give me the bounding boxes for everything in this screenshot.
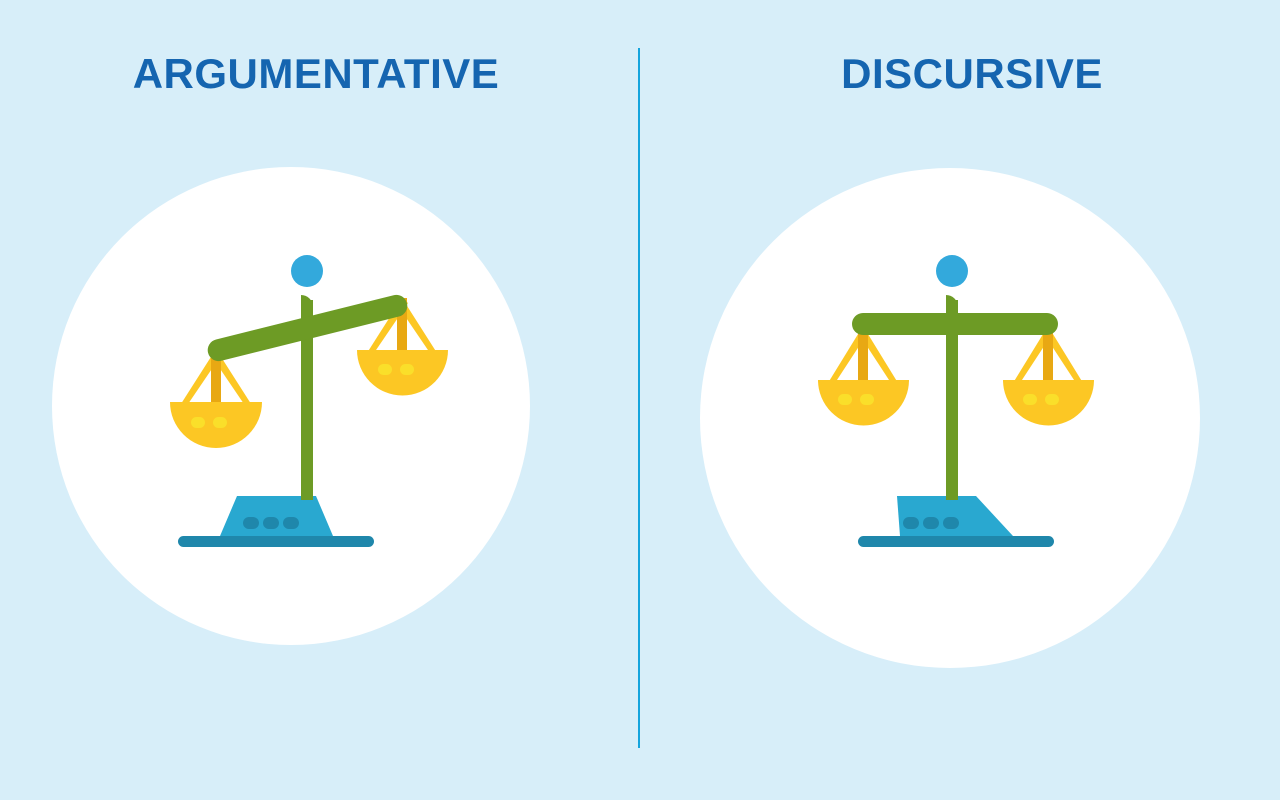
comparison-canvas: ARGUMENTATIVE xyxy=(0,0,1280,800)
panel-discursive: DISCURSIVE xyxy=(640,0,1280,800)
panel-argumentative: ARGUMENTATIVE xyxy=(0,0,638,800)
page-title-discursive: DISCURSIVE xyxy=(652,50,1280,98)
page-title-argumentative: ARGUMENTATIVE xyxy=(0,50,635,98)
balanced-scale-icon xyxy=(810,250,1110,560)
vertical-divider xyxy=(638,48,640,748)
unbalanced-scale-icon xyxy=(160,250,460,560)
